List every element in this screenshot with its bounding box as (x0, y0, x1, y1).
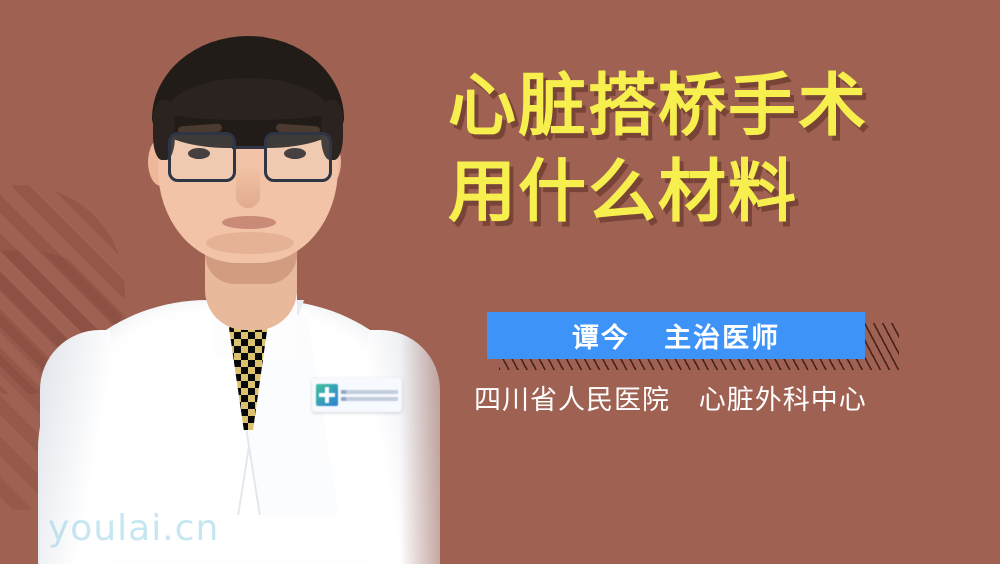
site-watermark: youlai.cn (48, 508, 219, 549)
id-badge-text-line (341, 390, 398, 394)
page-title: 心脏搭桥手术 用什么材料 (448, 64, 968, 236)
nose (236, 166, 260, 208)
id-badge-text-line (341, 397, 398, 401)
doctor-name-and-title: 谭今 主治医师 (487, 312, 865, 359)
chin-shadow (206, 232, 294, 254)
doctor-name-badge: 谭今 主治医师 (487, 312, 865, 359)
hospital-id-badge-text (341, 390, 398, 401)
hospital-id-badge (312, 378, 402, 412)
eyeglasses-lens-right (264, 132, 332, 182)
eyeglasses-bridge (232, 146, 266, 149)
doctor-portrait (0, 0, 470, 564)
hospital-cross-logo-icon (316, 384, 338, 406)
thumbnail-canvas: youlai.cn 心脏搭桥手术 用什么材料 谭今 主治医师 四川省人民医院 心… (0, 0, 1000, 564)
mouth (222, 216, 276, 229)
eyeglasses-lens-left (168, 132, 236, 182)
lab-coat-shadow-right (368, 330, 440, 564)
title-line-1: 心脏搭桥手术 (448, 64, 968, 150)
title-line-2: 用什么材料 (448, 150, 968, 236)
doctor-affiliation: 四川省人民医院 心脏外科中心 (474, 378, 867, 417)
